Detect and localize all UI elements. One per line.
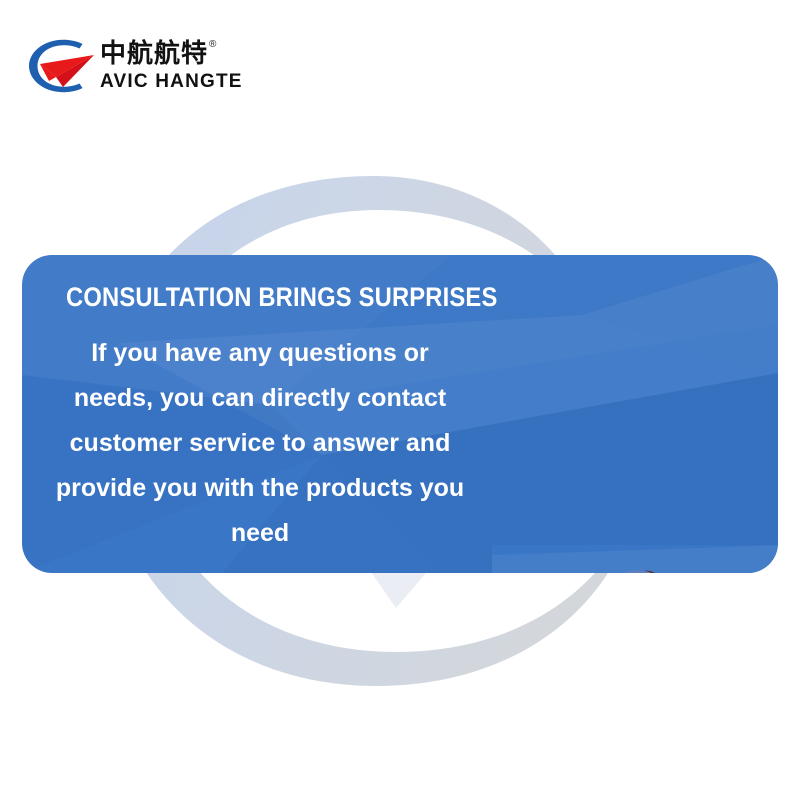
logo-wordmark: 中航航特 ® AVIC HANGTE xyxy=(100,41,243,91)
logo-english-name: AVIC HANGTE xyxy=(100,72,243,91)
brand-logo[interactable]: 中航航特 ® AVIC HANGTE xyxy=(24,30,244,102)
card-text-block: CONSULTATION BRINGS SURPRISES If you hav… xyxy=(22,255,492,573)
card-body-text: If you have any questions or needs, you … xyxy=(50,331,470,556)
logo-chinese-name: 中航航特 xyxy=(100,41,208,67)
avic-hangte-arrow-arc-logo-icon xyxy=(24,35,98,97)
customer-service-agent-illustration xyxy=(492,545,778,573)
registered-trademark-icon: ® xyxy=(209,40,216,50)
consultation-info-card: CONSULTATION BRINGS SURPRISES If you hav… xyxy=(22,255,778,573)
card-heading: CONSULTATION BRINGS SURPRISES xyxy=(66,282,427,313)
